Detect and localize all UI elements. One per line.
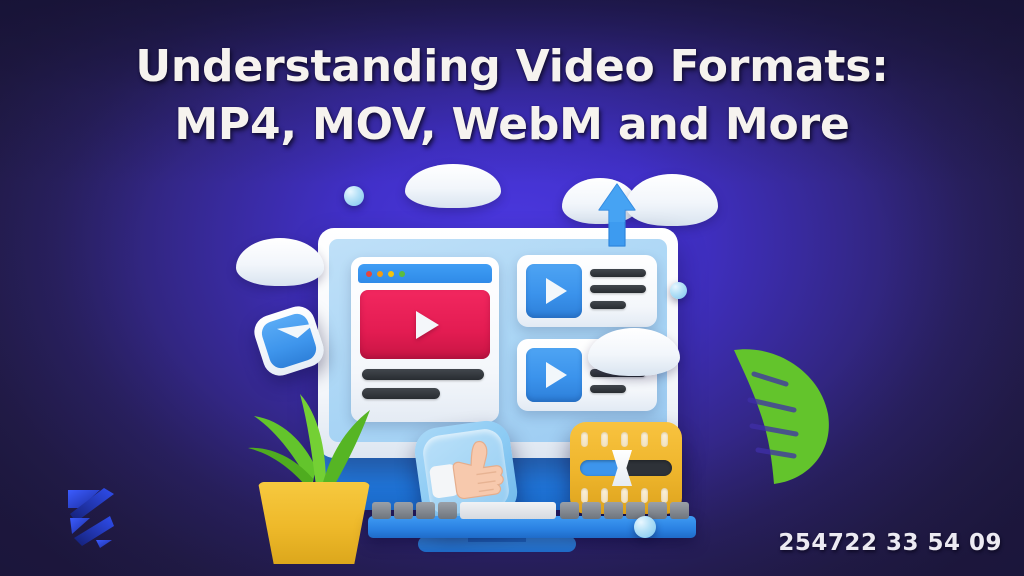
film-perforation [621, 432, 628, 447]
plant-pot [258, 482, 370, 564]
film-perforation [621, 488, 628, 503]
title-line-1: Understanding Video Formats: [0, 38, 1024, 96]
illustration-scene [240, 160, 800, 576]
keyboard-key[interactable] [416, 502, 435, 519]
plant-leaves [246, 390, 386, 490]
play-icon [277, 324, 316, 341]
browser-text-line-1 [362, 369, 484, 380]
cloud-top-right-b [626, 174, 718, 226]
browser-titlebar [358, 264, 492, 283]
list-text-line-2c [590, 385, 626, 393]
poster-title: Understanding Video Formats: MP4, MOV, W… [0, 38, 1024, 154]
play-chip-surface [259, 311, 319, 371]
decorative-sphere-top-left [344, 186, 364, 206]
keyboard-key[interactable] [582, 502, 601, 519]
traffic-dot-green [399, 271, 405, 277]
video-list-card-1[interactable] [517, 255, 657, 327]
decorative-sphere-bottom [634, 516, 656, 538]
brand-logo-icon[interactable] [60, 482, 122, 552]
traffic-dot-yellow [388, 271, 394, 277]
watermark-id: 254722 33 54 09 [778, 530, 1002, 556]
keyboard-spacebar[interactable] [460, 502, 556, 519]
poster-canvas: Understanding Video Formats: MP4, MOV, W… [0, 0, 1024, 576]
film-perforation [641, 432, 648, 447]
cloud-upload-icon [598, 182, 636, 248]
film-perforation [581, 488, 588, 503]
video-list-thumb-2[interactable] [526, 348, 582, 402]
keyboard-key[interactable] [648, 502, 667, 519]
list-text-line-1b [590, 285, 646, 293]
traffic-dot-red [366, 271, 372, 277]
film-perforation [641, 488, 648, 503]
keyboard-key[interactable] [438, 502, 457, 519]
video-player-thumbnail[interactable] [360, 290, 490, 359]
play-icon [546, 362, 567, 388]
title-line-2: MP4, MOV, WebM and More [0, 96, 1024, 154]
monstera-leaf [724, 338, 844, 488]
keyboard-key[interactable] [394, 502, 413, 519]
film-perforation [661, 432, 668, 447]
video-list-thumb-1[interactable] [526, 264, 582, 318]
play-icon [546, 278, 567, 304]
film-perforation [601, 432, 608, 447]
cloud-left [236, 238, 324, 286]
list-text-line-1a [590, 269, 646, 277]
keyboard-key[interactable] [670, 502, 689, 519]
keyboard-key[interactable] [604, 502, 623, 519]
play-icon [416, 311, 439, 339]
cloud-top-center [405, 164, 501, 208]
floating-play-chip[interactable] [250, 302, 328, 380]
traffic-dot-orange [377, 271, 383, 277]
list-text-line-1c [590, 301, 626, 309]
film-slider-panel[interactable] [570, 422, 682, 514]
keyboard-key[interactable] [372, 502, 391, 519]
keyboard-key[interactable] [560, 502, 579, 519]
thumbs-up-icon [424, 437, 510, 509]
film-perforation [661, 488, 668, 503]
film-perforation [581, 432, 588, 447]
film-perforation [601, 488, 608, 503]
decorative-sphere-right [670, 282, 687, 299]
